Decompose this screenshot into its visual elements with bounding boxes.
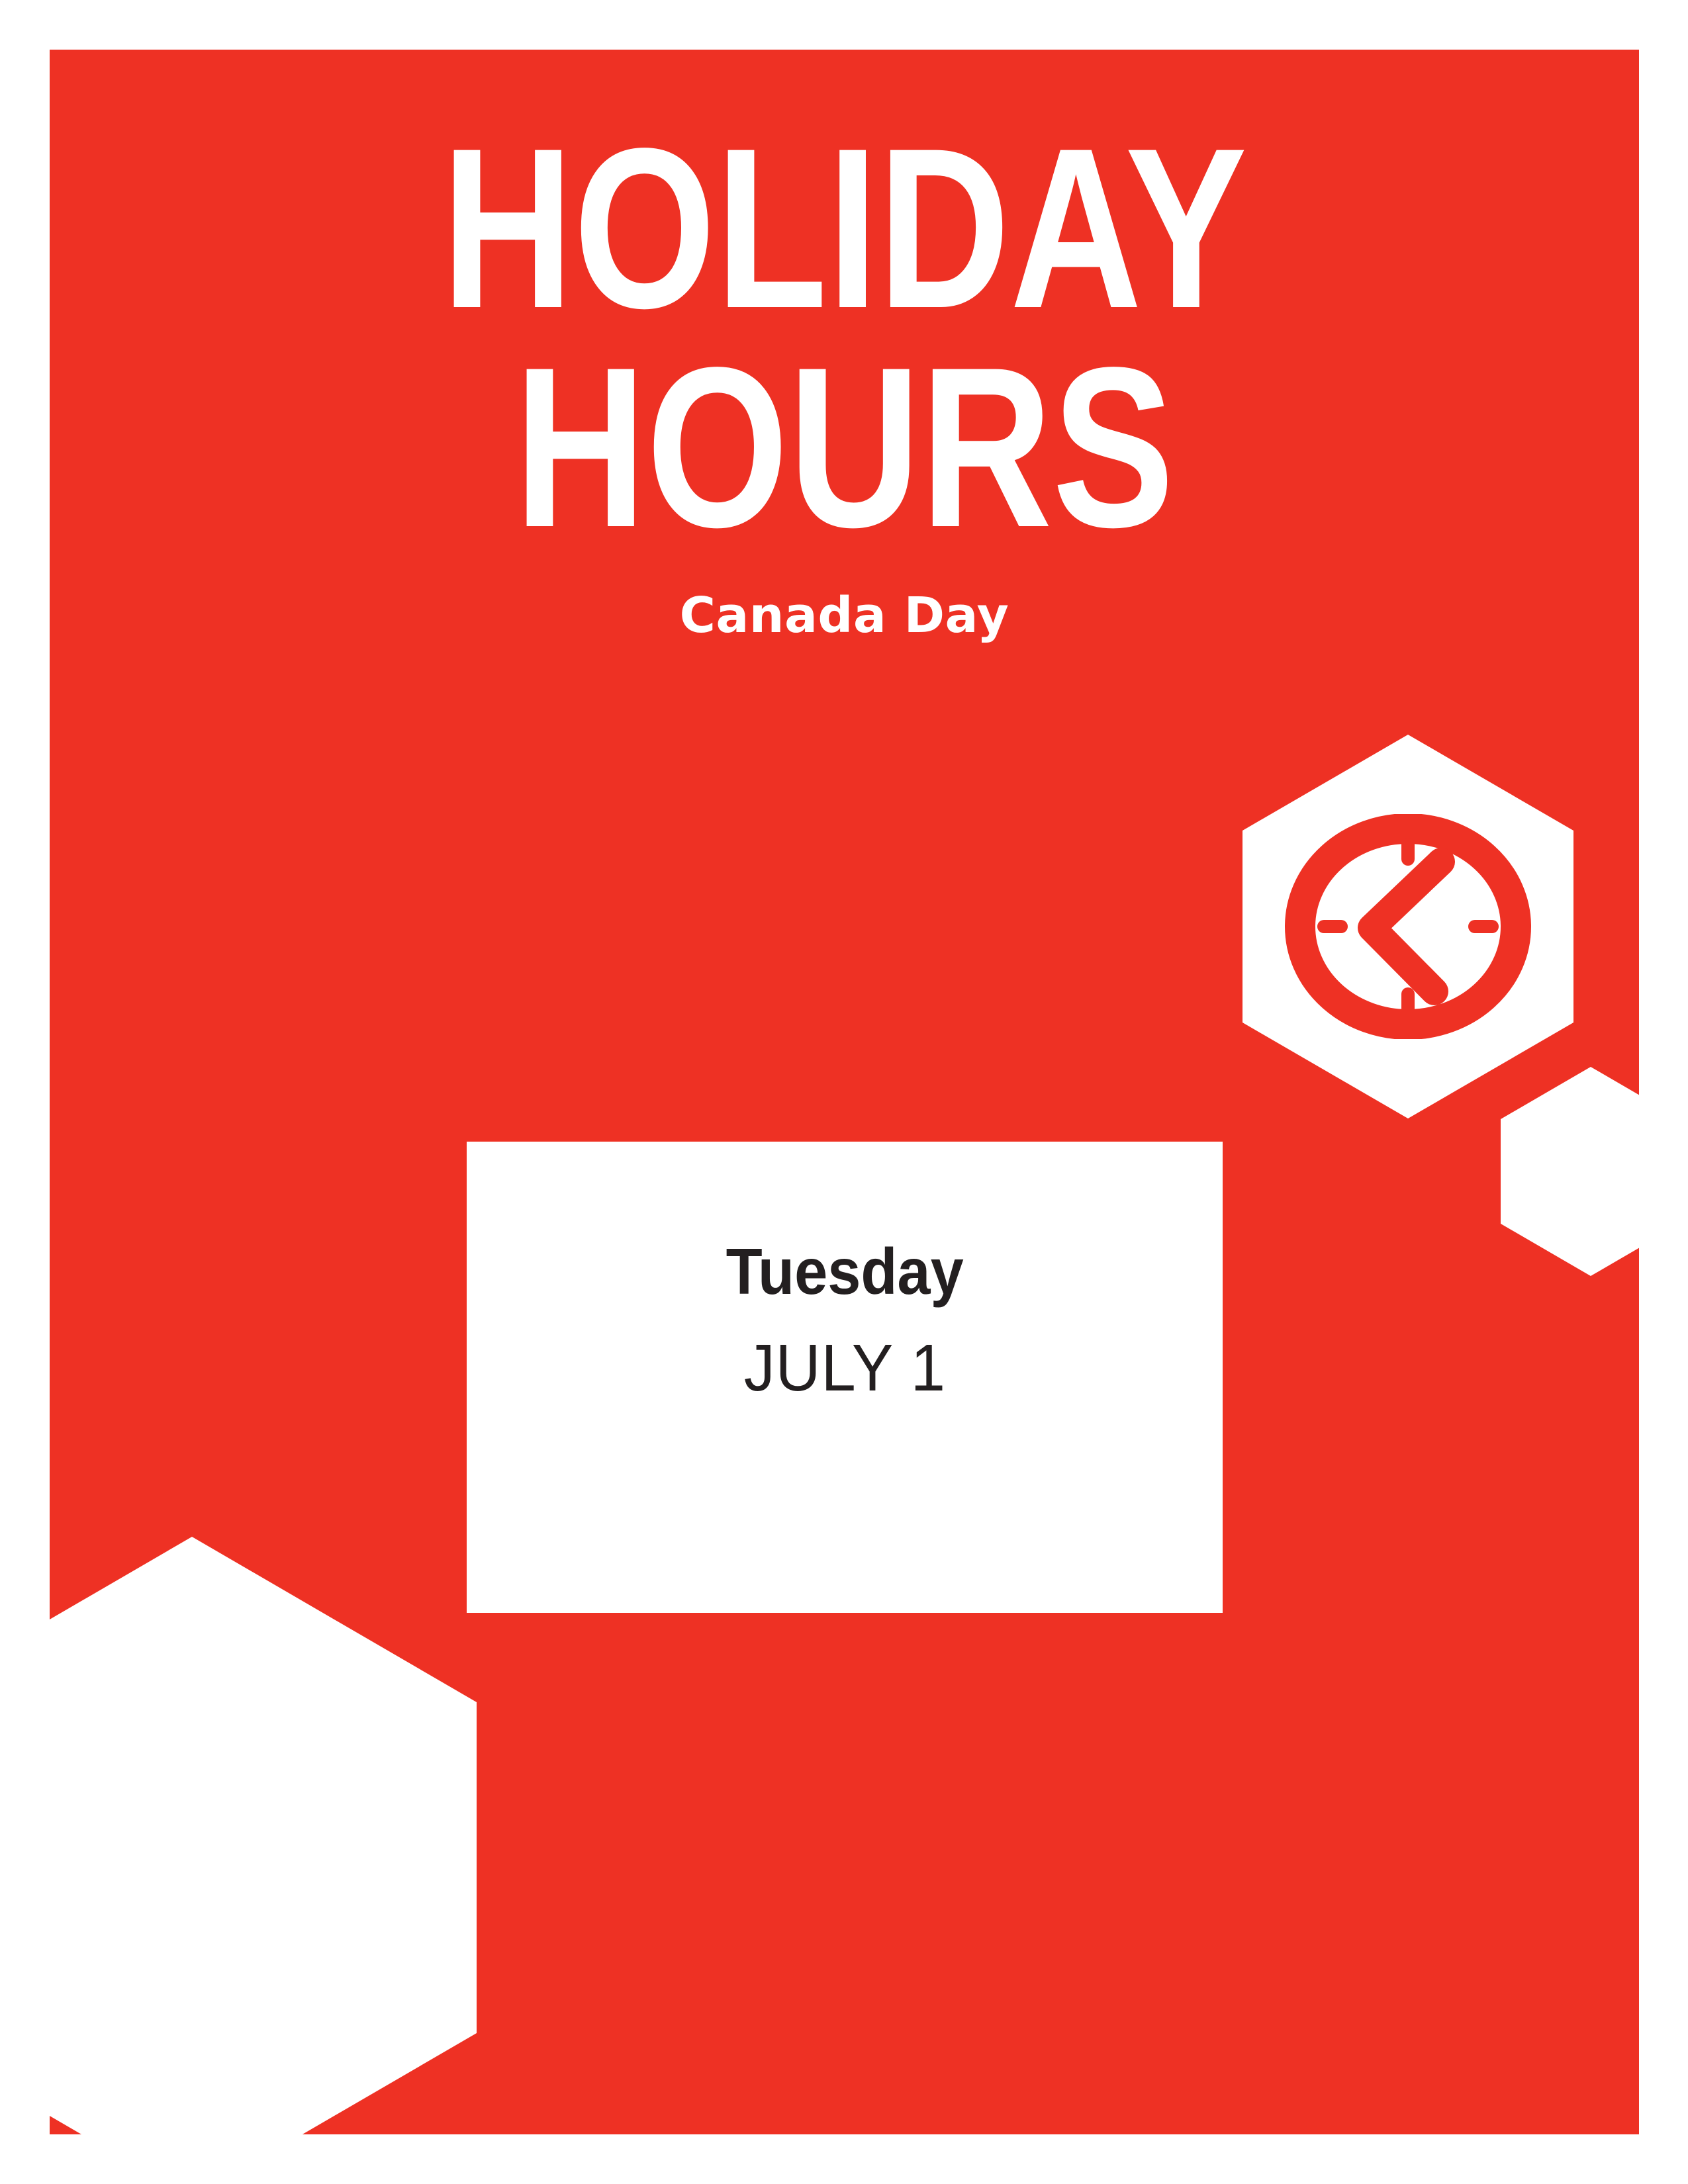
date-info-card: Tuesday JULY 1 [467,1142,1223,1613]
poster-canvas: HOLIDAY HOURS Canada Day Tuesday JULY 1 [0,0,1688,2184]
date-label: JULY 1 [743,1334,945,1403]
title-line-2: HOURS [209,338,1480,557]
weekday-label: Tuesday [726,1238,963,1306]
poster-title-block: HOLIDAY HOURS Canada Day [50,119,1639,645]
poster-subtitle: Canada Day [50,586,1639,645]
clock-icon [1279,814,1537,1039]
title-line-1: HOLIDAY [209,119,1480,338]
